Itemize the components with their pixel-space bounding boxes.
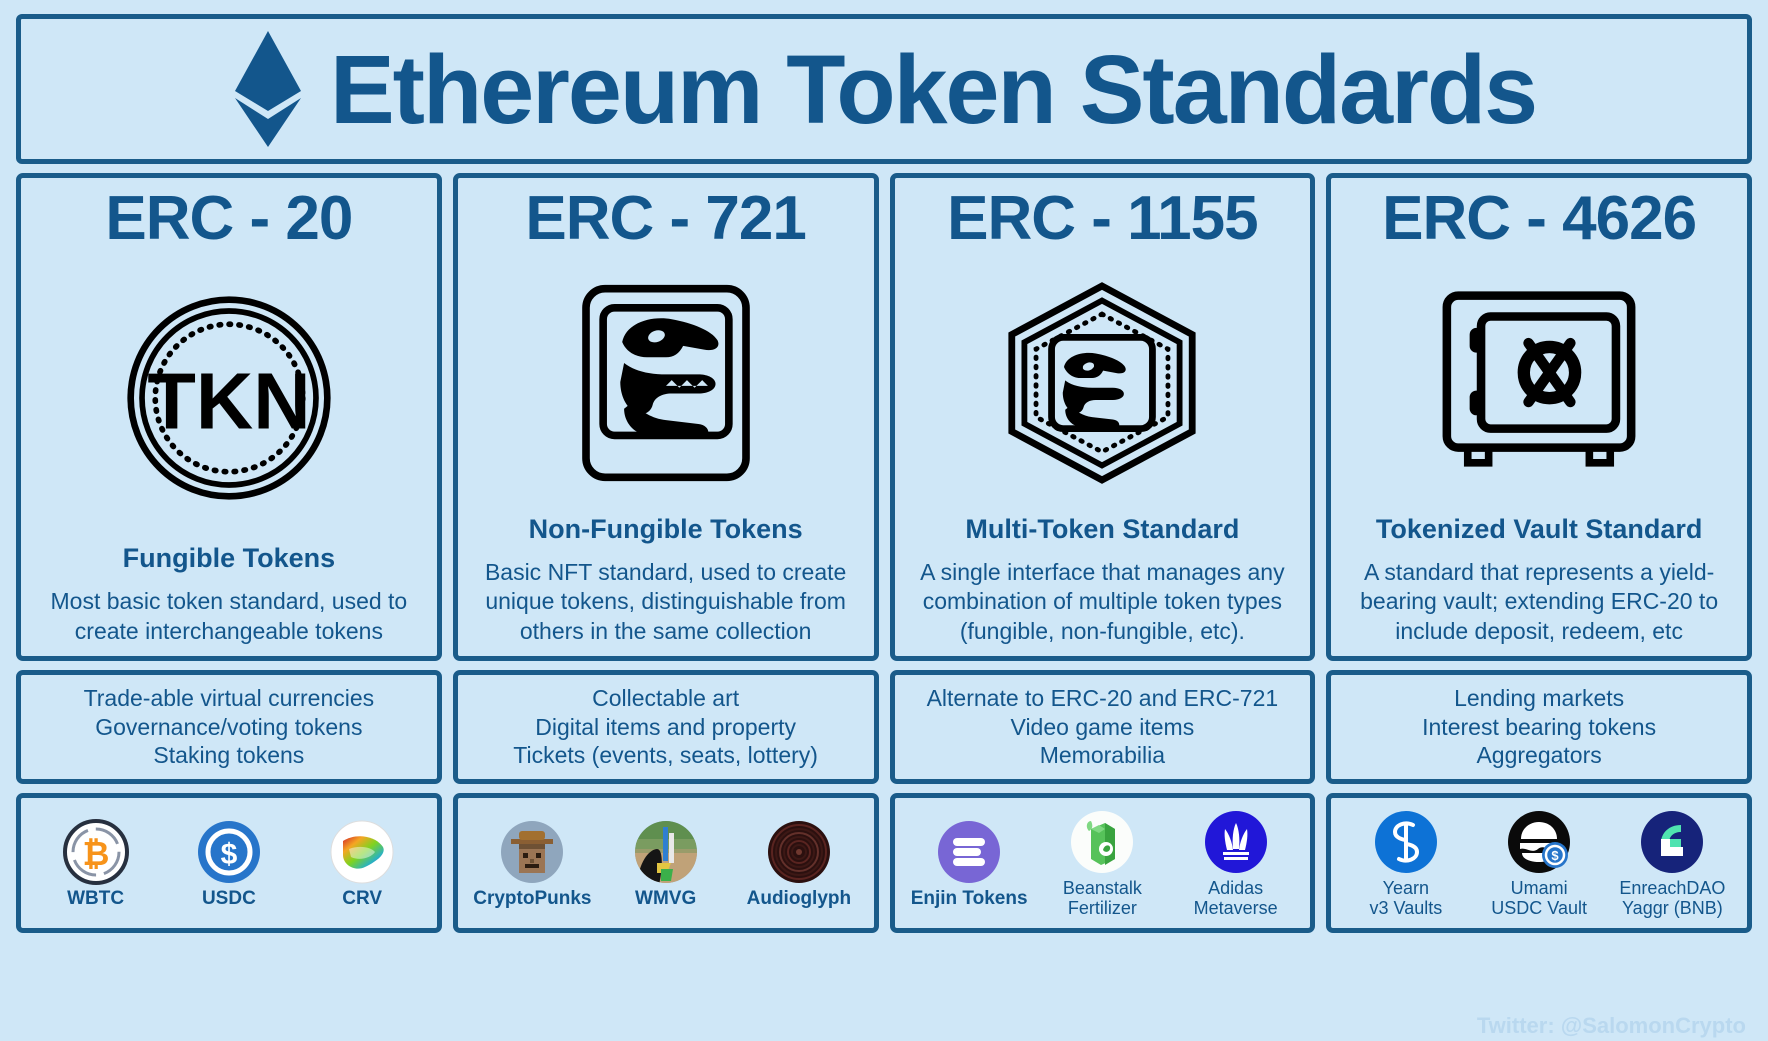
svg-text:$: $ bbox=[221, 838, 238, 871]
example-label: CryptoPunks bbox=[473, 889, 591, 910]
example-adidas[interactable]: AdidasMetaverse bbox=[1170, 809, 1302, 919]
token-coin-icon: TKN bbox=[35, 251, 423, 541]
example-label: CRV bbox=[342, 889, 382, 910]
card-erc4626: ERC - 4626 bbox=[1326, 173, 1752, 661]
example-label: WBTC bbox=[67, 889, 124, 910]
example-cryptopunks[interactable]: CryptoPunks bbox=[466, 819, 598, 910]
wmvg-icon bbox=[633, 819, 699, 885]
standard-title: ERC - 721 bbox=[525, 186, 805, 251]
use-cases-erc721: Collectable artDigital items and propert… bbox=[453, 670, 879, 784]
column-erc20: ERC - 20 TKN Fungible Tokens Most basic … bbox=[16, 173, 442, 933]
column-erc721: ERC - 721 bbox=[453, 173, 879, 933]
multi-token-hexagon-icon bbox=[909, 251, 1297, 512]
examples-erc721: CryptoPunks bbox=[453, 793, 879, 933]
standards-columns: ERC - 20 TKN Fungible Tokens Most basic … bbox=[16, 173, 1752, 933]
example-label: Yearnv3 Vaults bbox=[1370, 879, 1443, 919]
header-banner: Ethereum Token Standards bbox=[16, 14, 1752, 164]
standard-title: ERC - 4626 bbox=[1382, 186, 1696, 251]
example-wbtc[interactable]: ₿ WBTC bbox=[30, 819, 162, 910]
example-enjin[interactable]: Enjin Tokens bbox=[903, 819, 1035, 910]
crv-icon bbox=[329, 819, 395, 885]
column-erc4626: ERC - 4626 bbox=[1326, 173, 1752, 933]
example-label: Enjin Tokens bbox=[911, 889, 1028, 910]
usdc-icon: $ bbox=[196, 819, 262, 885]
standard-description: Basic NFT standard, used to create uniqu… bbox=[472, 558, 860, 646]
example-umami[interactable]: $ UmamiUSDC Vault bbox=[1473, 809, 1605, 919]
standard-title: ERC - 1155 bbox=[947, 186, 1258, 251]
svg-text:$: $ bbox=[1552, 848, 1560, 863]
standard-description: Most basic token standard, used to creat… bbox=[35, 587, 423, 646]
enjin-icon bbox=[936, 819, 1002, 885]
standard-subtitle: Multi-Token Standard bbox=[965, 514, 1239, 545]
example-enreachdao[interactable]: EnreachDAOYaggr (BNB) bbox=[1606, 809, 1738, 919]
umami-icon: $ bbox=[1506, 809, 1572, 875]
card-erc721: ERC - 721 bbox=[453, 173, 879, 661]
vault-safe-icon bbox=[1345, 251, 1733, 512]
example-crv[interactable]: CRV bbox=[296, 819, 428, 910]
column-erc1155: ERC - 1155 bbox=[890, 173, 1316, 933]
example-label: AdidasMetaverse bbox=[1194, 879, 1278, 919]
page-title: Ethereum Token Standards bbox=[330, 41, 1536, 138]
cryptopunks-icon bbox=[499, 819, 565, 885]
ethereum-diamond-icon bbox=[232, 29, 304, 149]
wbtc-icon: ₿ bbox=[63, 819, 129, 885]
use-cases-list: Trade-able virtual currenciesGovernance/… bbox=[84, 684, 375, 770]
example-label: EnreachDAOYaggr (BNB) bbox=[1619, 879, 1725, 919]
example-label: BeanstalkFertilizer bbox=[1063, 879, 1142, 919]
standard-description: A single interface that manages any comb… bbox=[909, 558, 1297, 646]
nft-dinosaur-card-icon bbox=[472, 251, 860, 512]
use-cases-list: Collectable artDigital items and propert… bbox=[513, 684, 818, 770]
beanstalk-icon bbox=[1069, 809, 1135, 875]
standard-subtitle: Fungible Tokens bbox=[123, 543, 336, 574]
example-label: Audioglyph bbox=[747, 889, 851, 910]
token-symbol-text: TKN bbox=[147, 356, 310, 445]
example-usdc[interactable]: $ USDC bbox=[163, 819, 295, 910]
infographic-page: Ethereum Token Standards ERC - 20 TKN Fu… bbox=[0, 0, 1768, 1041]
example-wmvg[interactable]: WMVG bbox=[600, 819, 732, 910]
examples-erc1155: Enjin Tokens Beanst bbox=[890, 793, 1316, 933]
footer-credit: Twitter: @SalomonCrypto bbox=[1477, 1013, 1746, 1039]
example-label: UmamiUSDC Vault bbox=[1491, 879, 1587, 919]
standard-subtitle: Non-Fungible Tokens bbox=[529, 514, 803, 545]
yearn-icon bbox=[1373, 809, 1439, 875]
use-cases-list: Alternate to ERC-20 and ERC-721Video gam… bbox=[927, 684, 1279, 770]
use-cases-erc4626: Lending marketsInterest bearing tokensAg… bbox=[1326, 670, 1752, 784]
example-audioglyph[interactable]: Audioglyph bbox=[733, 819, 865, 910]
examples-erc20: ₿ WBTC $ USDC bbox=[16, 793, 442, 933]
example-yearn[interactable]: Yearnv3 Vaults bbox=[1340, 809, 1472, 919]
svg-text:₿: ₿ bbox=[82, 835, 109, 872]
standard-title: ERC - 20 bbox=[105, 186, 352, 251]
example-beanstalk[interactable]: BeanstalkFertilizer bbox=[1036, 809, 1168, 919]
examples-erc4626: Yearnv3 Vaults $ Uma bbox=[1326, 793, 1752, 933]
card-erc20: ERC - 20 TKN Fungible Tokens Most basic … bbox=[16, 173, 442, 661]
standard-subtitle: Tokenized Vault Standard bbox=[1376, 514, 1703, 545]
audioglyph-icon bbox=[766, 819, 832, 885]
enreachdao-icon bbox=[1639, 809, 1705, 875]
adidas-icon bbox=[1203, 809, 1269, 875]
example-label: WMVG bbox=[635, 889, 696, 910]
standard-description: A standard that represents a yield-beari… bbox=[1345, 558, 1733, 646]
use-cases-erc20: Trade-able virtual currenciesGovernance/… bbox=[16, 670, 442, 784]
use-cases-erc1155: Alternate to ERC-20 and ERC-721Video gam… bbox=[890, 670, 1316, 784]
use-cases-list: Lending marketsInterest bearing tokensAg… bbox=[1422, 684, 1656, 770]
example-label: USDC bbox=[202, 889, 256, 910]
card-erc1155: ERC - 1155 bbox=[890, 173, 1316, 661]
